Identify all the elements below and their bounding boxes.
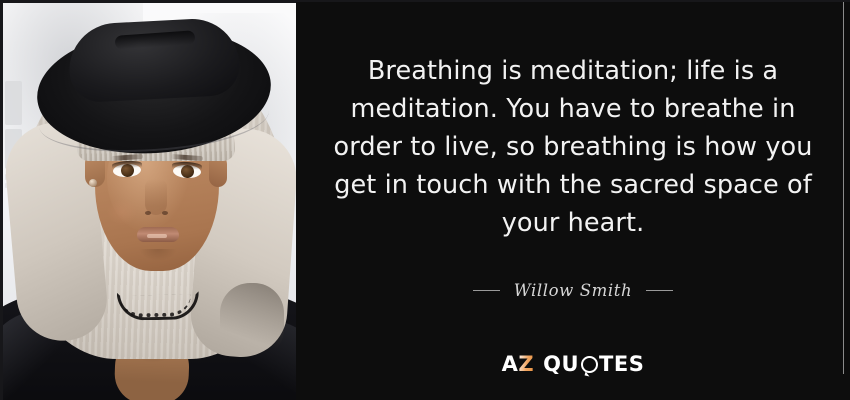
chin-shadow (139, 249, 177, 261)
earring (89, 179, 97, 187)
author-photo-panel (0, 0, 296, 400)
logo-text-qu: QU (543, 352, 579, 376)
nostril-left (145, 211, 151, 215)
quote-panel: Breathing is meditation; life is a medit… (296, 0, 850, 400)
top-border (0, 0, 850, 2)
author-name: Willow Smith (514, 281, 633, 300)
logo-quotes-wordmark: QUTES (543, 352, 644, 376)
cheek-highlight (107, 199, 137, 225)
quote-card: Breathing is meditation; life is a medit… (0, 0, 850, 400)
logo-text-tes: TES (599, 352, 644, 376)
logo-letter-z: Z (518, 352, 534, 376)
nose (145, 179, 167, 215)
quote-text: Breathing is meditation; life is a medit… (318, 52, 828, 242)
logo-letter-a: A (502, 352, 519, 376)
author-attribution: Willow Smith (296, 281, 850, 300)
lip-highlight (147, 234, 167, 238)
nostril-right (162, 211, 168, 215)
page-edge-line (843, 0, 844, 374)
hair-shadow (220, 283, 284, 359)
author-dash-right (646, 290, 673, 291)
author-dash-left (473, 290, 500, 291)
speech-bubble-icon (581, 356, 598, 373)
azquotes-logo[interactable]: AZ QUTES (296, 352, 850, 376)
logo-az-wordmark: AZ (502, 352, 535, 376)
author-photo (3, 3, 296, 400)
backdrop-logo-mark (5, 81, 22, 125)
